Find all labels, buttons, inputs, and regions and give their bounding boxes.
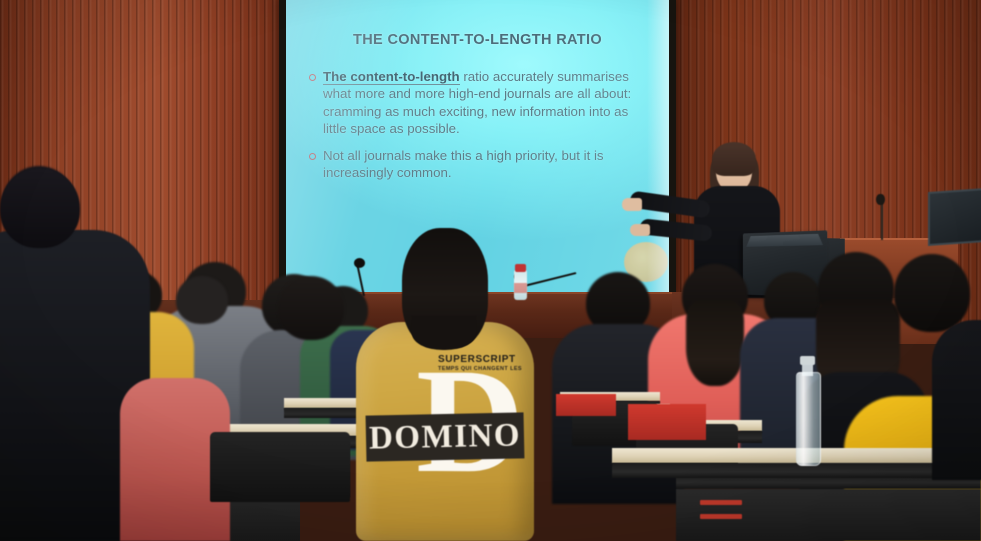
lectern-microphone-head: [876, 194, 885, 205]
jacket-tagline: TEMPS QUI CHANGENT LES: [438, 366, 522, 372]
water-bottle-label: [514, 283, 527, 293]
slide-bullet: Not all journals make this a high priori…: [308, 147, 653, 182]
slide-bullet: The content-to-length ratio accurately s…: [308, 68, 653, 138]
lecture-hall-photo: THE CONTENT-TO-LENGTH RATIO The content-…: [0, 0, 981, 541]
gooseneck-microphone: [520, 272, 582, 294]
water-bottle-clear: [796, 372, 821, 466]
desk-slot: [700, 514, 742, 519]
desk-slot: [700, 500, 742, 505]
jacket-brand: SUPERSCRIPT: [438, 354, 516, 365]
slide-bullet-text: Not all journals make this a high priori…: [323, 148, 604, 180]
slide-bullet-list: The content-to-length ratio accurately s…: [308, 68, 653, 190]
domino-jacket: D SUPERSCRIPT TEMPS QUI CHANGENT LES DOM…: [356, 322, 534, 541]
chair: [210, 432, 350, 502]
slide-title: THE CONTENT-TO-LENGTH RATIO: [286, 32, 669, 48]
presenter-hand-pointing-lower: [630, 224, 650, 236]
gooseneck-microphone-head: [354, 258, 365, 268]
microphone-arm: [520, 272, 577, 288]
jacket-wordmark-band: DOMINO: [366, 412, 525, 461]
chair-cushion: [628, 404, 706, 440]
student-hair-tail: [412, 316, 476, 350]
lectern-microphone-stem: [881, 200, 883, 240]
water-bottle-cap: [800, 356, 815, 365]
jacket-wordmark: DOMINO: [369, 417, 522, 457]
presenter-hair: [712, 142, 756, 176]
water-bottle-cap: [515, 264, 526, 272]
desk-edge: [612, 463, 981, 478]
presenter-hand-pointing: [622, 198, 642, 211]
slide-bullet-lead: The content-to-length: [323, 69, 460, 85]
wall-monitor: [928, 188, 981, 246]
chair-cushion: [556, 394, 616, 416]
